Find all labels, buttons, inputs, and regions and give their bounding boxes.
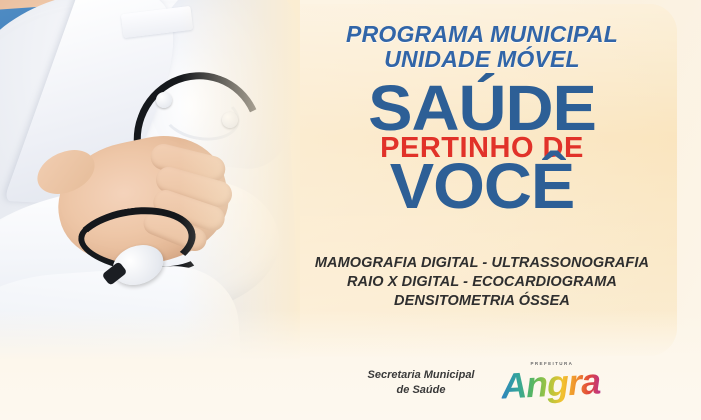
service-line-3: DENSITOMETRIA ÓSSEA <box>282 292 682 311</box>
services-list: MAMOGRAFIA DIGITAL - ULTRASSONOGRAFIA RA… <box>282 254 682 311</box>
stethoscope-earpiece-left <box>156 92 172 108</box>
secretaria-municipal-de-saude: Secretaria Municipal de Saúde <box>368 368 475 398</box>
prefeitura-angra-logo: PREFEITURA Angra <box>501 360 597 406</box>
kicker-line-2: UNIDADE MÓVEL <box>282 47 682 72</box>
stethoscope-earpiece-right <box>222 112 238 128</box>
kicker-line-1: PROGRAMA MUNICIPAL <box>346 21 618 47</box>
secretaria-line-1: Secretaria Municipal <box>368 368 475 383</box>
headline-block: SAÚDE PERTINHO DE VOCÊ <box>282 78 682 228</box>
service-line-1: MAMOGRAFIA DIGITAL - ULTRASSONOGRAFIA <box>282 254 682 273</box>
logo-wordmark-angra: Angra <box>500 361 601 406</box>
poster-root: PROGRAMA MUNICIPAL UNIDADE MÓVEL SAÚDE P… <box>0 0 701 420</box>
secretaria-line-2: de Saúde <box>368 383 475 398</box>
program-kicker: PROGRAMA MUNICIPAL UNIDADE MÓVEL <box>282 22 682 72</box>
service-line-2: RAIO X DIGITAL - ECOCARDIOGRAMA <box>282 273 682 292</box>
headline-saude: SAÚDE <box>274 78 690 138</box>
headline-voce: VOCÊ <box>274 154 690 218</box>
poster-footer: Secretaria Municipal de Saúde PREFEITURA… <box>282 360 682 406</box>
